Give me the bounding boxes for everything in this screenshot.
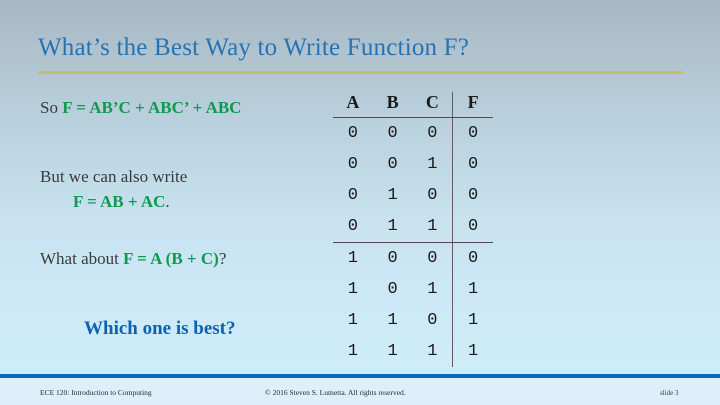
cell-c: 1 <box>412 149 452 180</box>
table-row: 1 0 0 0 <box>333 243 493 275</box>
cell-a: 1 <box>333 336 373 367</box>
title-underline-rule <box>38 71 683 74</box>
truth-table-header-row: A B C F <box>333 92 493 118</box>
table-row: 0 1 0 0 <box>333 180 493 211</box>
table-row: 1 1 0 1 <box>333 305 493 336</box>
cell-b: 1 <box>373 336 413 367</box>
body-line-1-prefix: So <box>40 98 62 117</box>
page-title: What’s the Best Way to Write Function F? <box>38 34 469 62</box>
cell-a: 1 <box>333 243 373 275</box>
cell-c: 1 <box>412 274 452 305</box>
body-line-also-write: But we can also write <box>40 167 187 187</box>
cell-f: 0 <box>453 243 493 275</box>
footer-copyright: © 2016 Steven S. Lumetta. All rights res… <box>265 388 406 397</box>
cell-a: 0 <box>333 211 373 243</box>
body-line-which-is-best: Which one is best? <box>84 318 236 340</box>
formula-factored: F = A (B + C) <box>123 249 219 268</box>
truth-table: A B C F 0 0 0 0 0 0 1 0 <box>333 92 493 367</box>
cell-b: 0 <box>373 274 413 305</box>
cell-b: 0 <box>373 118 413 150</box>
cell-f: 1 <box>453 336 493 367</box>
cell-b: 1 <box>373 211 413 243</box>
cell-f: 0 <box>453 118 493 150</box>
cell-a: 0 <box>333 180 373 211</box>
truth-table-header-f: F <box>453 92 493 118</box>
truth-table-header-a: A <box>333 92 373 118</box>
formula-simplified: F = AB + AC <box>73 192 165 211</box>
body-line-what-about: What about F = A (B + C)? <box>40 249 226 269</box>
table-row: 0 0 0 0 <box>333 118 493 150</box>
cell-a: 1 <box>333 305 373 336</box>
cell-c: 0 <box>412 118 452 150</box>
truth-table-header-c: C <box>412 92 452 118</box>
cell-c: 1 <box>412 211 452 243</box>
slide-canvas: What’s the Best Way to Write Function F?… <box>0 0 720 405</box>
cell-f: 0 <box>453 149 493 180</box>
footer-slide-number: slide 3 <box>660 389 678 397</box>
cell-f: 1 <box>453 274 493 305</box>
body-line-sum-of-products: So F = AB’C + ABC’ + ABC <box>40 98 241 118</box>
formula-simplified-period: . <box>165 192 169 211</box>
cell-c: 1 <box>412 336 452 367</box>
truth-table-header-b: B <box>373 92 413 118</box>
footer-course-name: ECE 120: Introduction to Computing <box>40 388 152 397</box>
cell-a: 0 <box>333 149 373 180</box>
cell-f: 1 <box>453 305 493 336</box>
cell-a: 1 <box>333 274 373 305</box>
table-row: 0 1 1 0 <box>333 211 493 243</box>
cell-b: 0 <box>373 243 413 275</box>
table-row: 1 0 1 1 <box>333 274 493 305</box>
cell-c: 0 <box>412 305 452 336</box>
body-line-simplified: F = AB + AC. <box>73 192 170 212</box>
truth-table-body: 0 0 0 0 0 0 1 0 0 1 0 0 0 <box>333 118 493 368</box>
cell-f: 0 <box>453 211 493 243</box>
cell-b: 1 <box>373 180 413 211</box>
cell-c: 0 <box>412 243 452 275</box>
cell-b: 0 <box>373 149 413 180</box>
cell-c: 0 <box>412 180 452 211</box>
cell-a: 0 <box>333 118 373 150</box>
formula-sum-of-products: F = AB’C + ABC’ + ABC <box>62 98 241 117</box>
truth-table-grid: A B C F 0 0 0 0 0 0 1 0 <box>333 92 493 367</box>
formula-factored-question-mark: ? <box>219 249 227 268</box>
table-row: 1 1 1 1 <box>333 336 493 367</box>
cell-b: 1 <box>373 305 413 336</box>
table-row: 0 0 1 0 <box>333 149 493 180</box>
body-line-4-prefix: What about <box>40 249 123 268</box>
cell-f: 0 <box>453 180 493 211</box>
